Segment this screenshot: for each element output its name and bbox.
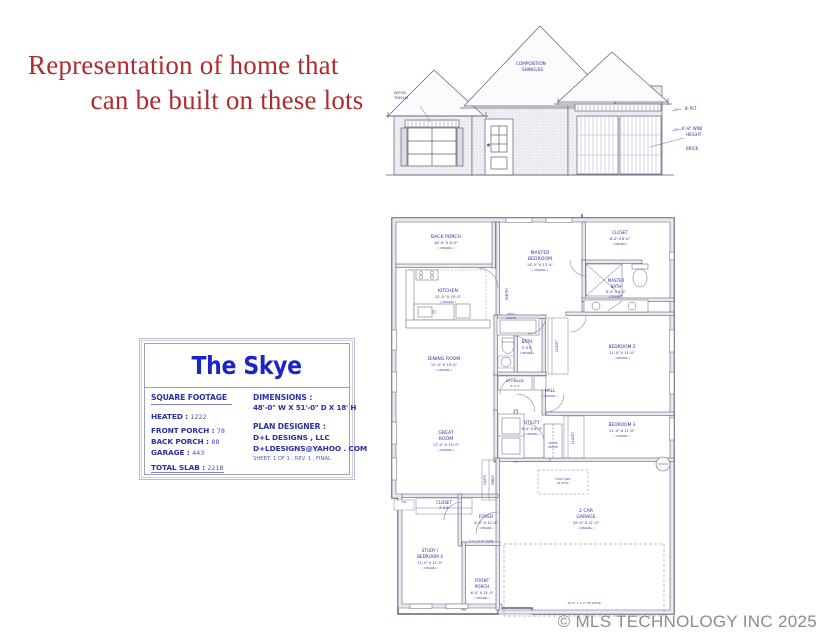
room-ceiling-front-porch: ( CEILING ) xyxy=(474,596,489,600)
room-ceiling-master-bedroom: ( CEILING ) xyxy=(532,268,548,272)
room-dims-front-porch: 6'-0" X 13'-0" xyxy=(471,591,494,595)
room-dims-bedroom-2: 11'-0" X 11'-0" xyxy=(609,351,635,355)
room-dims-great-room: 17'-0" X 15'-0" xyxy=(433,443,460,447)
room-ceiling-dining-room: ( CEILING ) xyxy=(436,368,452,372)
room-label-bath: BATH xyxy=(522,339,533,344)
room-dims-kitchen: 12'-0" X 10'-0" xyxy=(435,295,462,299)
square-footage-column: SQUARE FOOTAGE HEATED : 1222 FRONT PORCH… xyxy=(145,388,247,474)
room-label-study-bedroom-line2: BEDROOM 4 xyxy=(417,554,443,559)
square-footage-header: SQUARE FOOTAGE xyxy=(151,393,241,402)
floor-plan-drawing: BACK PORCH 18'-0" X 6'-0" ( CEILING ) KI… xyxy=(386,212,678,620)
room-label-storage: STORAGE xyxy=(506,378,525,383)
room-dims-bath: 5' X 8' xyxy=(522,346,532,350)
room-ceiling-utility: ( CEILING ) xyxy=(524,432,539,436)
sqft-label-total-slab: TOTAL SLAB : xyxy=(151,463,205,472)
annotation-entry-door: 3'-0" X 6'-8" DOOR xyxy=(469,539,494,543)
sqft-row-garage: GARAGE : 443 xyxy=(151,448,241,457)
room-label-front-closet: CLOSET xyxy=(436,500,452,505)
room-dims-back-porch: 18'-0" X 6'-0" xyxy=(434,241,458,245)
elevation-label-window-line1: 6'-8" WINDOW xyxy=(682,126,702,131)
elevation-label-trellis-line1: WOOD xyxy=(394,91,406,95)
room-label-bedroom-3: BEDROOM 3 xyxy=(608,422,635,428)
room-label-kitchen: KITCHEN xyxy=(438,288,458,294)
sqft-value-back-porch: 88 xyxy=(211,438,219,446)
room-ceiling-master-bath: ( CEILING ) xyxy=(609,295,624,299)
plan-designer-email: D+LDESIGNS@YAHOO . COM xyxy=(253,444,343,453)
room-ceiling-great-room: ( CEILING ) xyxy=(438,448,454,452)
room-label-back-porch: BACK PORCH xyxy=(431,234,461,240)
annotation-attic-access-line1: ATTIC xyxy=(507,312,514,316)
room-dims-bedroom-3: 11'-0" X 11'-0" xyxy=(609,429,635,433)
elevation-label-plate: 8' PLT xyxy=(685,106,697,111)
room-label-study-bedroom-line1: STUDY / xyxy=(422,548,439,553)
room-dims-front-closet: 3' X 6' xyxy=(439,506,449,510)
room-label-master-bedroom-line2: BEDROOM xyxy=(528,256,552,262)
headline-line-1: Representation of home that xyxy=(28,48,418,83)
room-dims-garage: 20'-0" X 21'-0" xyxy=(573,521,600,525)
title-block-inner-border: The Skye SQUARE FOOTAGE HEATED : 1222 FR… xyxy=(144,343,350,475)
elevation-label-shingles-line1: COMPOSITION xyxy=(516,61,546,66)
copyright-notice: © MLS TECHNOLOGY INC 2025 xyxy=(558,612,817,632)
title-block-body: SQUARE FOOTAGE HEATED : 1222 FRONT PORCH… xyxy=(145,388,349,474)
room-label-master-bath-line2: BATH xyxy=(611,284,622,289)
room-label-front-porch-line1: FRONT xyxy=(475,578,490,583)
plan-designer-company: D+L DESIGNS , LLC xyxy=(253,433,343,442)
dimensions-designer-column: DIMENSIONS : 48'-0" W X 51'-0" D X 18' H… xyxy=(247,388,349,474)
room-dims-master-bath: 8'-0" X 9'-0" xyxy=(606,290,626,294)
room-label-bedroom-2: BEDROOM 2 xyxy=(608,344,635,350)
plan-name: The Skye xyxy=(192,353,302,378)
elevation-label-shingles-line2: SHINGLES xyxy=(522,67,543,72)
spacer xyxy=(151,405,241,410)
room-ceiling-foyer: ( CEILING ) xyxy=(478,526,493,530)
room-ceiling-garage: ( CEILING ) xyxy=(578,526,594,530)
room-dims-study-bedroom: 11'-0" X 11'-0" xyxy=(418,561,443,565)
room-label-foyer: FOYER xyxy=(479,514,493,520)
dimensions-header: DIMENSIONS : xyxy=(253,393,343,402)
annotation-garage-door: 16'-0" X 7'-0" OH DOOR xyxy=(567,601,600,605)
room-label-utility: UTILITY xyxy=(524,420,540,425)
sqft-row-total-slab: TOTAL SLAB : 2218 xyxy=(151,463,224,473)
sqft-label-heated: HEATED : xyxy=(151,412,188,421)
room-ceiling-bath: ( CEILING ) xyxy=(520,351,535,355)
dimensions-value: 48'-0" W X 51'-0" D X 18' H xyxy=(253,403,343,412)
annotation-hvac-line2: IN ATTIC xyxy=(557,481,569,485)
plan-name-row: The Skye xyxy=(145,344,349,388)
plan-designer-header: PLAN DESIGNER : xyxy=(253,422,343,431)
room-ceiling-study-bedroom: ( CEILING ) xyxy=(422,566,437,570)
annotation-closet-bedroom-3: CLOSET xyxy=(571,432,575,444)
room-label-master-bath-line1: MASTER xyxy=(608,278,625,283)
sqft-row-back-porch: BACK PORCH : 88 xyxy=(151,437,241,446)
room-label-master-closet: CLOSET xyxy=(612,230,628,235)
annotation-coats: COATS xyxy=(483,475,487,486)
elevation-label-brick: BRICK xyxy=(686,146,698,151)
annotation-water-heater-line1: WATER xyxy=(548,441,557,445)
room-dims-dining-room: 12'-0" X 10'-0" xyxy=(431,363,458,367)
room-dims-utility: 6'-0" X 8'-0" xyxy=(522,427,543,431)
room-ceiling-back-porch: ( CEILING ) xyxy=(438,246,454,250)
room-ceiling-kitchen: ( CEILING ) xyxy=(440,300,456,304)
listing-image-canvas: Representation of home that can be built… xyxy=(0,0,825,638)
plan-title-block: The Skye SQUARE FOOTAGE HEATED : 1222 FR… xyxy=(139,338,355,480)
room-ceiling-bedroom-3: ( CEILING ) xyxy=(614,434,629,438)
sqft-label-front-porch: FRONT PORCH : xyxy=(151,426,214,435)
room-dims-storage: 3' X 4' xyxy=(510,384,520,388)
spacer xyxy=(151,421,241,424)
room-label-great-room-line2: ROOM xyxy=(439,436,453,442)
sqft-label-garage: GARAGE : xyxy=(151,448,190,457)
sqft-value-total-slab: 2218 xyxy=(207,464,223,472)
sqft-value-garage: 443 xyxy=(192,449,204,457)
sqft-value-front-porch: 78 xyxy=(217,427,225,435)
room-label-master-bedroom-line1: MASTER xyxy=(531,250,551,256)
annotation-closet-bedroom-2: CLOSET xyxy=(555,340,559,352)
room-label-garage-line2: GARAGE xyxy=(576,514,595,520)
annotation-pantry: PANTRY xyxy=(505,288,509,300)
room-dims-master-closet: 6'-0" X 6'-0" xyxy=(610,237,630,241)
room-label-garage-line1: 2 CAR xyxy=(579,508,594,514)
room-label-dining-room: DINING ROOM xyxy=(428,356,461,362)
room-label-great-room-line1: GREAT xyxy=(438,430,453,436)
elevation-label-trellis-line2: TRELLIS xyxy=(393,96,409,100)
room-dims-master-bedroom: 14'-0" X 13'-4" xyxy=(527,263,554,267)
page-title: Representation of home that can be built… xyxy=(28,48,418,117)
room-ceiling-hall: ( CEILING ) xyxy=(542,394,557,398)
elevation-label-window-line2: HEIGHT xyxy=(686,132,702,137)
annotation-water-heater-line2: HEATER xyxy=(548,445,558,449)
room-ceiling-master-closet: ( CEILING ) xyxy=(613,242,628,246)
room-label-hall: HALL xyxy=(545,388,556,393)
plan-designer-note: SHEET: 1 OF 1 , REV. 1 , FINAL xyxy=(253,456,343,462)
sqft-value-heated: 1222 xyxy=(190,413,206,421)
annotation-attic-access-line2: ACCESS xyxy=(506,316,517,320)
headline-line-2: can be built on these lots xyxy=(28,83,418,118)
room-ceiling-bedroom-2: ( CEILING ) xyxy=(614,356,629,360)
sqft-row-front-porch: FRONT PORCH : 78 xyxy=(151,426,241,435)
annotation-window-typ: TYP. xyxy=(401,500,406,504)
home-elevation-drawing: COMPOSITION SHINGLES WOOD TRELLIS 8' PLT… xyxy=(372,8,702,198)
sqft-label-back-porch: BACK PORCH : xyxy=(151,437,209,446)
room-label-front-porch-line2: PORCH xyxy=(475,584,490,589)
annotation-shelf-coats: SHELF xyxy=(491,475,495,485)
sqft-row-heated: HEATED : 1222 xyxy=(151,412,241,421)
room-dims-foyer: 6'-0" X 10'-0" xyxy=(474,521,498,525)
